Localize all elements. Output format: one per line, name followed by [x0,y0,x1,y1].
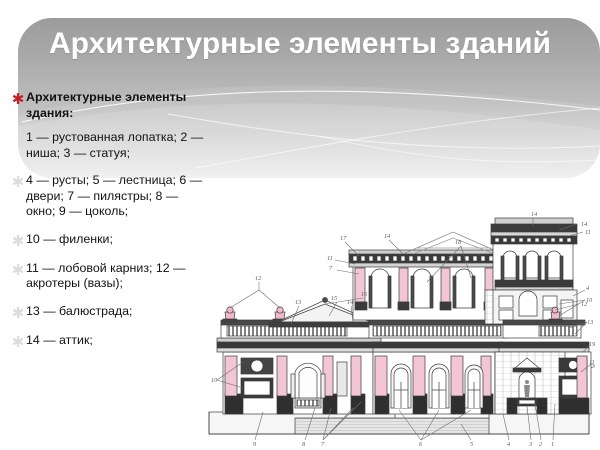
callout-20: 20 [591,363,595,370]
asterisk-icon: ✱ [10,261,26,278]
callout-16: 16 [361,291,368,298]
callout-8: 8 [302,441,306,448]
list-item-text: 11 — лобовой карниз; 12 — акротеры (вазы… [26,261,210,292]
list-item[interactable]: ✱ 4 — русты; 5 — лестница; 6 — двери; 7 … [10,173,210,220]
asterisk-icon: ✱ [10,304,26,321]
list-item-text: 10 — филенки; [26,232,210,248]
callout-1: 1 [551,441,554,448]
list-item[interactable]: ✱ 14 — аттик; [10,333,210,350]
page-title: Архитектурные элементы зданий [40,26,560,62]
callout-13: 13 [295,299,301,306]
callout-9: 9 [253,441,256,448]
callout-10: 10 [211,377,218,384]
callout-13b: 13 [587,319,593,326]
callout-17: 17 [340,235,347,242]
asterisk-icon: ✱ [10,173,26,190]
callout-12: 12 [255,275,261,282]
callout-18: 18 [455,239,462,246]
callout-12b: 12 [581,301,587,308]
callout-14c: 14 [531,212,537,218]
list-item[interactable]: ✱ 13 — балюстрада; [10,304,210,321]
callout-4: 4 [586,285,589,292]
asterisk-icon: ✱ [10,90,26,107]
callout-2: 2 [539,441,542,448]
bullet-list: ✱ Архитектурные элементы здания: 1 — рус… [10,90,210,362]
callout-15: 15 [331,295,337,302]
callout-3: 3 [528,441,532,448]
callout-14b: 14 [347,299,353,306]
list-item-heading: Архитектурные элементы здания: [26,90,186,120]
list-item[interactable]: ✱ Архитектурные элементы здания: 1 — рус… [10,90,210,161]
list-item-text: 13 — балюстрада; [26,304,210,320]
list-item-body: 1 — рустованная лопатка; 2 — ниша; 3 — с… [26,130,210,161]
callout-14: 14 [384,233,390,240]
list-item-text: 14 — аттик; [26,333,210,349]
callout-14d: 14 [581,221,587,228]
callout-4b: 4 [507,441,510,448]
list-item[interactable]: ✱ 10 — филенки; [10,232,210,249]
asterisk-icon: ✱ [10,333,26,350]
list-item-text: 4 — русты; 5 — лестница; 6 — двери; 7 — … [26,173,210,220]
list-item-text: Архитектурные элементы здания: 1 — русто… [26,90,210,161]
callout-5: 5 [470,441,473,448]
callout-11b: 11 [327,255,333,262]
callout-19: 19 [589,341,595,348]
slide-canvas: Архитектурные элементы зданий ✱ Архитект… [0,0,600,450]
asterisk-icon: ✱ [10,232,26,249]
building-facade-diagram: 9 8 7 6 5 4 3 2 1 12 13 14 15 16 10 17 1… [203,212,595,448]
list-item[interactable]: ✱ 11 — лобовой карниз; 12 — акротеры (ва… [10,261,210,292]
callout-7: 7 [321,441,325,448]
callout-6: 6 [419,441,423,448]
callout-7b: 7 [329,265,333,272]
callout-11c: 11 [585,229,591,236]
